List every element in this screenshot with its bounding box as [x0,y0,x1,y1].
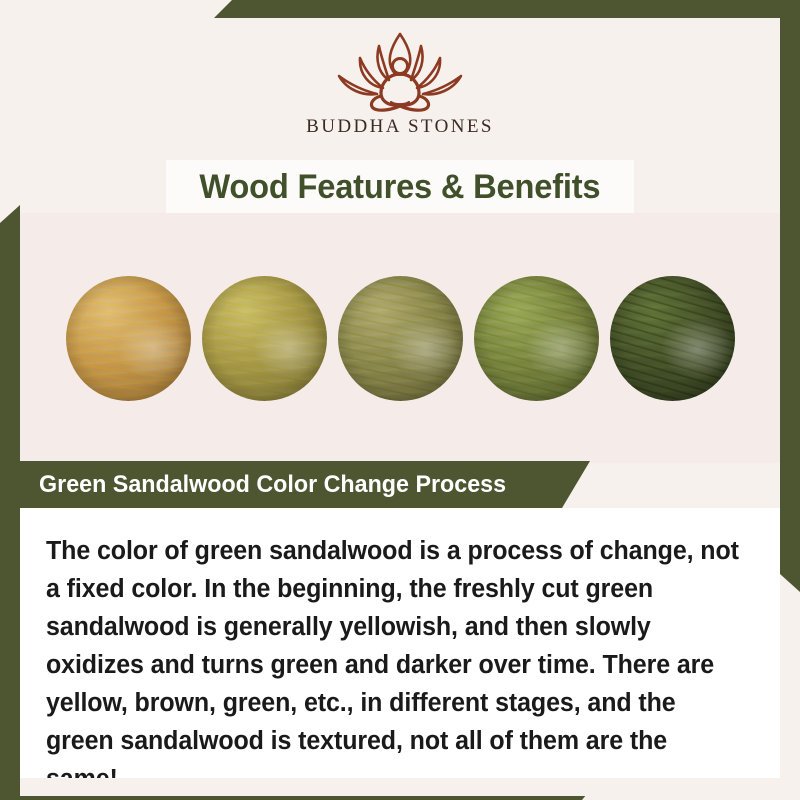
brand-name: BUDDHA STONES [306,116,494,138]
bead-stage-3-olive-gray [338,276,463,401]
bead-gallery [20,213,780,463]
lotus-meditation-icon [325,26,475,112]
bead-stage-4-medium-green [474,276,599,401]
page-title: Wood Features & Benefits [199,168,600,207]
bead-stage-2-yellow-olive [202,276,327,401]
frame-bar-top [214,0,800,18]
infographic-poster: BUDDHA STONES Wood Features & Benefits G… [0,0,800,800]
section-title: Green Sandalwood Color Change Process [27,471,506,499]
bead-highlight [202,276,327,401]
bottom-sliver [20,778,780,796]
title-band: Wood Features & Benefits [166,160,634,214]
poster-card: BUDDHA STONES Wood Features & Benefits G… [20,18,780,778]
bead-highlight [610,276,735,401]
section-ribbon: Green Sandalwood Color Change Process [20,461,590,508]
bead-highlight [338,276,463,401]
description-text: The color of green sandalwood is a proce… [46,532,744,798]
description-panel: The color of green sandalwood is a proce… [20,508,780,778]
frame-bar-left [0,205,20,800]
bead-stage-5-dark-green [610,276,735,401]
bead-highlight [474,276,599,401]
frame-bar-right [780,0,800,592]
bead-stage-1-yellow-tan [66,276,191,401]
bead-highlight [66,276,191,401]
